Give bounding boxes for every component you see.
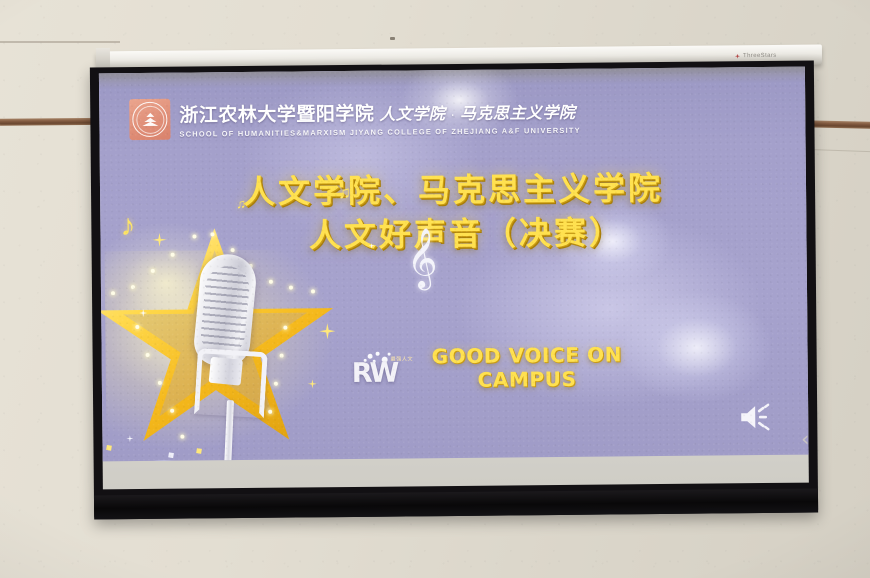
- projector-brand-text: ThreeStars: [743, 53, 777, 59]
- projector-screen: 浙江农林大学暨阳学院 人文学院 · 马克思主义学院 SCHOOL OF HUMA…: [90, 61, 818, 520]
- event-logo-row: RW 最强人文 GOOD VOICE ON CAMPUS: [352, 342, 623, 393]
- header-separator: ·: [450, 105, 455, 121]
- university-seal-icon: [129, 99, 170, 140]
- microphone-icon: [189, 254, 263, 462]
- slide-header: 浙江农林大学暨阳学院 人文学院 · 马克思主义学院 SCHOOL OF HUMA…: [129, 95, 581, 140]
- star-icon: [735, 54, 740, 59]
- seal-mountain-glyph: [141, 113, 158, 126]
- tagline-line1: GOOD VOICE ON: [432, 342, 623, 368]
- header-english-line: SCHOOL OF HUMANITIES&MARXISM JIYANG COLL…: [179, 125, 580, 138]
- header-chinese-line: 浙江农林大学暨阳学院 人文学院 · 马克思主义学院: [179, 96, 581, 127]
- event-tagline: GOOD VOICE ON CAMPUS: [432, 342, 623, 393]
- treble-clef-icon: 𝄞: [406, 232, 437, 284]
- projector-screen-casing-end: [96, 48, 110, 68]
- rw-logo: RW 最强人文: [352, 352, 412, 387]
- music-note-icon: ♫: [338, 183, 351, 203]
- tagline-line2: CAMPUS: [432, 367, 623, 393]
- light-glow: [621, 292, 772, 403]
- header-text-group: 浙江农林大学暨阳学院 人文学院 · 马克思主义学院 SCHOOL OF HUMA…: [179, 96, 581, 138]
- music-note-icon: ♫: [236, 196, 246, 211]
- rw-logo-mark: RW: [352, 360, 397, 387]
- logo-dots: [352, 352, 412, 353]
- projector-brand-label: ThreeStars: [735, 53, 777, 59]
- seal-ring: [132, 102, 167, 137]
- university-name: 浙江农林大学暨阳学院: [179, 98, 374, 127]
- school-name-humanities: 人文学院: [379, 100, 445, 125]
- projected-slide: 浙江农林大学暨阳学院 人文学院 · 马克思主义学院 SCHOOL OF HUMA…: [99, 67, 809, 462]
- school-name-marxism: 马克思主义学院: [460, 98, 576, 123]
- rw-logo-subtitle: 最强人文: [391, 356, 413, 363]
- classroom-scene: ThreeStars: [0, 0, 870, 578]
- music-note-icon: ♪: [120, 209, 135, 243]
- slide-artwork: ♪ ♫ ♫: [99, 201, 385, 462]
- speaker-volume-icon[interactable]: [738, 403, 772, 431]
- ceiling-screw: [390, 37, 395, 40]
- wall-seam: [0, 41, 120, 43]
- chevron-left-icon[interactable]: ‹: [801, 427, 810, 451]
